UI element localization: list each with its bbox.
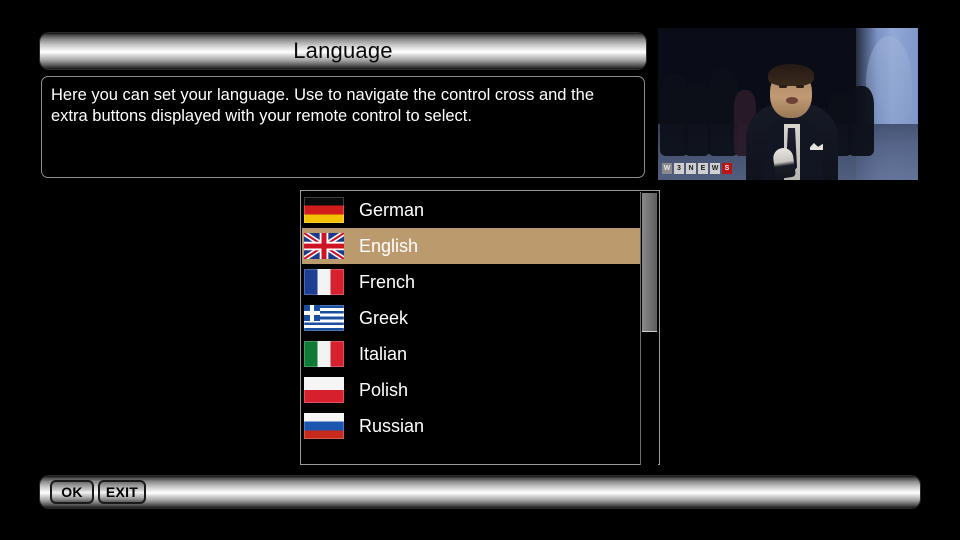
language-list-item[interactable]: Polish: [302, 372, 642, 408]
watermark-chip: W: [710, 163, 720, 174]
flag-italy-icon: [304, 341, 344, 367]
exit-button[interactable]: EXIT: [98, 480, 146, 504]
language-list-item-label: German: [359, 201, 424, 219]
language-list: GermanEnglishFrenchGreekItalianPolishRus…: [302, 192, 642, 444]
language-list-item-label: Greek: [359, 309, 408, 327]
list-scrollbar-thumb[interactable]: [642, 193, 657, 332]
watermark-chip: S: [722, 163, 732, 174]
watermark-chip: W: [662, 163, 672, 174]
video-crowd-figure: [848, 86, 874, 156]
language-list-item[interactable]: German: [302, 192, 642, 228]
flag-poland-icon: [304, 377, 344, 403]
video-crowd-figure: [684, 82, 710, 156]
watermark-chip: N: [686, 163, 696, 174]
video-subject-eye-left: [779, 85, 787, 88]
language-list-item[interactable]: Italian: [302, 336, 642, 372]
flag-united-kingdom-icon: [304, 233, 344, 259]
page-title: Language: [40, 40, 646, 62]
description-text: Here you can set your language. Use to n…: [51, 85, 629, 127]
language-list-item[interactable]: English: [302, 228, 642, 264]
watermark-chip: E: [698, 163, 708, 174]
language-list-item[interactable]: French: [302, 264, 642, 300]
flag-france-icon: [304, 269, 344, 295]
language-list-item-label: French: [359, 273, 415, 291]
video-preview[interactable]: W3NEWS: [658, 28, 918, 180]
broadcaster-watermark: W3NEWS: [662, 163, 732, 174]
flag-germany-icon: [304, 197, 344, 223]
language-list-item-label: Polish: [359, 381, 408, 399]
flag-greece-icon: [304, 305, 344, 331]
language-list-item-label: Russian: [359, 417, 424, 435]
video-subject-eye-right: [796, 85, 804, 88]
ok-button[interactable]: OK: [50, 480, 94, 504]
language-list-item[interactable]: Greek: [302, 300, 642, 336]
video-subject-mouth: [786, 97, 798, 104]
language-list-item-label: Italian: [359, 345, 407, 363]
title-bar: Language: [40, 33, 646, 69]
flag-russia-icon: [304, 413, 344, 439]
list-scrollbar-track[interactable]: [640, 192, 658, 465]
watermark-chip: 3: [674, 163, 684, 174]
video-subject-hair: [768, 64, 814, 86]
description-box: Here you can set your language. Use to n…: [41, 76, 645, 178]
language-list-item[interactable]: Russian: [302, 408, 642, 444]
tv-settings-screen: Language Here you can set your language.…: [0, 0, 960, 540]
language-list-item-label: English: [359, 237, 418, 255]
language-list-panel[interactable]: GermanEnglishFrenchGreekItalianPolishRus…: [300, 190, 660, 465]
bottom-button-bar: OK EXIT: [40, 476, 920, 508]
